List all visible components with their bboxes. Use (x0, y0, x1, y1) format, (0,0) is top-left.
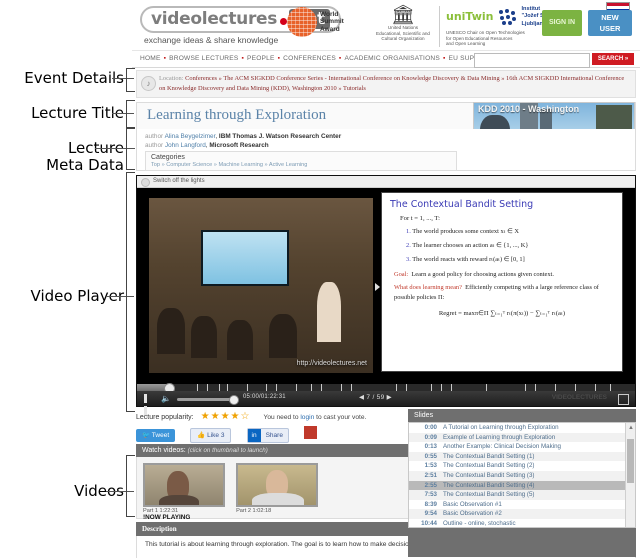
tweet-button[interactable]: 🐦 Tweet (136, 429, 175, 442)
video-thumbnail-2-caption: Part 2 1:02:18 (236, 508, 318, 514)
vote-note: You need to login to cast your vote. (264, 414, 367, 421)
seek-tick (247, 384, 248, 391)
video-thumbnail-1-image (143, 463, 225, 507)
slide-step-1-text: The world produces some context xₜ ∈ X (412, 228, 519, 235)
time-display: 05:00/01:22:31 (243, 394, 286, 400)
annotation-label-lecture-title: Lecture Title (6, 105, 124, 122)
next-slide-icon[interactable]: ▶ (387, 394, 392, 401)
slide-item-title: A Tutorial on Learning through Explorati… (443, 423, 559, 433)
slide-counter: 7 / 59 (366, 394, 384, 401)
switch-off-lights-button[interactable]: Switch off the lights (137, 176, 635, 188)
seek-tick (406, 384, 407, 391)
thumb1-body (159, 495, 199, 507)
slide-intro: For t = 1, ..., T: (400, 215, 614, 222)
slide-step-3-text: The world reacts with reward rₜ(aₜ) ∈ [0… (412, 256, 524, 263)
slide-navigation[interactable]: ◀ 7 / 59 ▶ (359, 393, 392, 401)
audience-person-3 (227, 320, 253, 360)
slide-list-item[interactable]: 0:13Another Example: Clinical Decision M… (409, 442, 635, 452)
slide-question-label: What does learning mean? (394, 284, 462, 291)
seek-tick (219, 384, 220, 391)
scroll-up-icon[interactable]: ▲ (628, 425, 634, 431)
new-user-line1: NEW (601, 13, 619, 22)
slide-item-title: Basic Observation #2 (443, 509, 502, 519)
vote-note-post: to cast your vote. (314, 414, 366, 421)
slide-item-time: 2:51 (411, 471, 437, 481)
video-player: Switch off the lights http://videolectur… (136, 175, 636, 407)
lightbulb-icon (141, 178, 150, 187)
volume-slider[interactable] (177, 398, 233, 401)
seek-tick (351, 384, 352, 391)
slide-item-time: 8:39 (411, 500, 437, 510)
browser-page: videolecturesnet exchange ideas & share … (132, 0, 640, 558)
slide-list-item[interactable]: 8:39Basic Observation #1 (409, 500, 635, 510)
annotation-label-event-details: Event Details (6, 70, 124, 87)
categories-path[interactable]: Top » Computer Science » Machine Learnin… (151, 162, 451, 168)
slide-view[interactable]: The Contextual Bandit Setting For t = 1,… (381, 192, 623, 372)
switch-off-lights-label: Switch off the lights (153, 178, 205, 184)
popularity-label: Lecture popularity: (136, 414, 194, 421)
slide-item-time: 0:55 (411, 452, 437, 462)
rating-stars[interactable]: ★★★★☆ (201, 411, 251, 422)
slide-item-time: 10:44 (411, 519, 437, 528)
like-label: Like 3 (207, 432, 224, 439)
player-controls: 🔈 05:00/01:22:31 ◀ 7 / 59 ▶ VIDEOLECTURE… (137, 391, 635, 406)
slide-list-item[interactable]: 0:09Example of Learning through Explorat… (409, 433, 635, 443)
slide-step-2: 2. The learner chooses an action aₜ ∈ {1… (406, 241, 614, 249)
title-band: Learning through Exploration KDD 2010 - … (136, 102, 636, 129)
slide-item-title: The Contextual Bandit Setting (1) (443, 452, 535, 462)
seek-tick (341, 384, 342, 391)
slide-list-item[interactable]: 10:44Outline - online, stochastic (409, 519, 635, 528)
slide-item-time: 2:55 (411, 481, 437, 491)
seek-tick (486, 384, 487, 391)
annotation-column: Event Details Lecture Title Lecture Meta… (0, 0, 132, 558)
unesco-temple-icon: 🏛 (372, 6, 434, 25)
watch-videos-hint: (click on thumbnail to launch) (188, 447, 268, 454)
slides-panel-footer (408, 531, 636, 557)
slide-item-title: The Contextual Bandit Setting (3) (443, 471, 535, 481)
seek-tick (296, 384, 297, 391)
slide-item-time: 0:13 (411, 442, 437, 452)
seek-tick (441, 384, 442, 391)
nav-item-academic-organisations[interactable]: ACADEMIC ORGANISATIONS (344, 55, 440, 62)
vote-note-pre: You need to (264, 414, 301, 421)
slide-list-item[interactable]: 0:00A Tutorial on Learning through Explo… (409, 423, 635, 433)
search-button[interactable]: SEARCH » (592, 53, 634, 65)
globe-icon (287, 7, 317, 37)
slide-equation: Regret = maxπ∈Π ∑ₜ₌₁ᵀ rₜ(π(xₜ)) − ∑ₜ₌₁ᵀ … (390, 309, 614, 317)
video-watermark: http://videolectures.net (297, 360, 367, 367)
meta-band: author Alina Beygelzimer, IBM Thomas J. … (136, 129, 636, 171)
seek-tick (575, 384, 576, 391)
seek-tick (396, 384, 397, 391)
slide-goal-label: Goal: (394, 271, 408, 278)
world-summit-award-badge: World Summit Award (287, 7, 365, 43)
unitwin-logo-icon: uniTwin (446, 10, 494, 23)
author-affiliation-2: Microsoft Research (209, 142, 268, 149)
seek-tick (595, 384, 596, 391)
annotation-bracket-event (126, 68, 135, 92)
slide-item-time: 7:53 (411, 490, 437, 500)
slide-prev-arrow-icon[interactable] (375, 283, 380, 291)
ijs-dots-icon (499, 9, 517, 25)
fullscreen-icon[interactable] (618, 394, 629, 405)
seek-tick (535, 384, 536, 391)
annotation-bracket-meta (126, 128, 135, 170)
seek-tick (276, 384, 277, 391)
categories-box: Categories Top » Computer Science » Mach… (145, 151, 457, 171)
author-name-1[interactable]: Alina Beygelzimer (165, 133, 216, 140)
nav-item-home[interactable]: HOME (140, 55, 161, 62)
location-bar: ♪ Location: Conferences » The ACM SIGKDD… (136, 70, 636, 98)
now-playing-badge: !NOW PLAYING (143, 514, 225, 521)
video-thumbnail-2[interactable]: Part 2 1:02:18 (236, 463, 318, 514)
sign-in-button[interactable]: SIGN IN (542, 10, 582, 36)
seek-tick (431, 384, 432, 391)
location-text: Location: Conferences » The ACM SIGKDD C… (159, 74, 630, 94)
tweet-label: Tweet (152, 432, 169, 439)
location-pin-icon: ♪ (141, 76, 156, 91)
prev-slide-icon[interactable]: ◀ (359, 394, 364, 401)
slide-list-item[interactable]: 2:55The Contextual Bandit Setting (4) (409, 481, 635, 491)
slide-list-item[interactable]: 1:53The Contextual Bandit Setting (2) (409, 461, 635, 471)
slide-goal-text: Learn a good policy for choosing actions… (411, 271, 554, 278)
event-banner-title: KDD 2010 - Washington (478, 104, 579, 114)
search-input[interactable] (474, 53, 590, 68)
author-row-2: author John Langford, Microsoft Research (145, 141, 627, 150)
slide-item-time: 0:00 (411, 423, 437, 433)
speaker-icon[interactable]: 🔈 (161, 394, 171, 403)
slide-step-1: 1. The world produces some context xₜ ∈ … (406, 227, 614, 235)
scrollbar-thumb[interactable] (627, 439, 634, 483)
player-stage: http://videolectures.net The Contextual … (137, 188, 635, 383)
slide-item-title: Basic Observation #1 (443, 500, 502, 510)
slide-goal: Goal: Learn a good policy for choosing a… (394, 271, 614, 278)
audience-person-2 (191, 316, 217, 358)
slide-step-3: 3. The world reacts with reward rₜ(aₜ) ∈… (406, 255, 614, 263)
site-header: videolecturesnet exchange ideas & share … (132, 0, 640, 51)
facebook-like-button[interactable]: 👍 Like 3 (190, 428, 231, 443)
author-label-1: author (145, 133, 163, 140)
author-label-2: author (145, 142, 163, 149)
seek-tick (197, 384, 198, 391)
volume-handle[interactable] (229, 395, 239, 405)
location-path[interactable]: Conferences » The ACM SIGKDD Conference … (159, 75, 624, 92)
audience-person-4 (269, 314, 297, 358)
seek-tick (525, 384, 526, 391)
slide-item-title: Another Example: Clinical Decision Makin… (443, 442, 561, 452)
linkedin-icon: in (248, 429, 261, 442)
slide-step-2-text: The learner chooses an action aₜ ∈ {1, .… (412, 242, 528, 249)
seek-tick (207, 384, 208, 391)
thumb2-body (252, 493, 304, 507)
slide-item-time: 0:09 (411, 433, 437, 443)
annotation-label-lecture-meta: Lecture Meta Data (6, 140, 124, 174)
slides-panel: Slides ▲ 0:00A Tutorial on Learning thro… (408, 409, 636, 558)
slide-item-title: Outline - online, stochastic (443, 519, 516, 528)
seek-bar[interactable] (137, 383, 635, 391)
slide-item-time: 9:54 (411, 509, 437, 519)
slides-scrollbar[interactable]: ▲ (625, 423, 635, 527)
world-summit-award-text: World Summit Award (320, 11, 344, 33)
slide-item-title: The Contextual Bandit Setting (4) (443, 481, 535, 491)
unesco-caption: United Nations Educational, Scientific a… (372, 25, 434, 42)
video-thumbnail-1[interactable]: Part 1 1:22:31 !NOW PLAYING (143, 463, 225, 521)
seek-tick (555, 384, 556, 391)
slide-list-item[interactable]: 7:53The Contextual Bandit Setting (5) (409, 490, 635, 500)
slide-list-item[interactable]: 9:54Basic Observation #2 (409, 509, 635, 519)
new-user-line2: USER (600, 24, 621, 33)
main-navigation: HOME▪BROWSE LECTURES▪PEOPLE▪CONFERENCES▪… (132, 51, 640, 68)
speaker-person (317, 282, 341, 342)
nav-item-conferences[interactable]: CONFERENCES (283, 55, 336, 62)
seek-progress (137, 384, 167, 391)
annotation-bracket-videos (126, 455, 135, 517)
seek-tick (266, 384, 267, 391)
seek-tick (227, 384, 228, 391)
slide-item-title: The Contextual Bandit Setting (5) (443, 490, 535, 500)
seek-tick (451, 384, 452, 391)
linkedin-share-button[interactable]: inShare (247, 428, 289, 443)
slide-list-item[interactable]: 2:51The Contextual Bandit Setting (3) (409, 471, 635, 481)
annotation-bracket-player (126, 172, 135, 412)
nav-item-browse-lectures[interactable]: BROWSE LECTURES (169, 55, 238, 62)
logo-main-text: videolectures (151, 9, 277, 29)
slide-item-time: 1:53 (411, 461, 437, 471)
pause-icon[interactable] (144, 394, 153, 403)
video-thumbnail-2-image (236, 463, 318, 507)
annotation-bracket-title (126, 100, 135, 128)
location-label: Location: (159, 75, 184, 82)
player-brand: VIDEOLECTURES (552, 394, 607, 401)
seek-tick (321, 384, 322, 391)
slide-list-item[interactable]: 0:55The Contextual Bandit Setting (1) (409, 452, 635, 462)
author-affiliation-1: IBM Thomas J. Watson Research Center (219, 133, 341, 140)
new-user-button[interactable]: NEW USER (588, 10, 632, 36)
slide-question: What does learning mean? Efficiently com… (394, 283, 614, 302)
seek-tick (311, 384, 312, 391)
slide-item-title: Example of Learning through Exploration (443, 433, 555, 443)
nav-item-people[interactable]: PEOPLE (247, 55, 275, 62)
watch-videos-heading: Watch videos: (142, 447, 186, 454)
audience-person-1 (157, 308, 185, 354)
author-name-2[interactable]: John Langford (165, 142, 206, 149)
video-view[interactable]: http://videolectures.net (149, 198, 373, 373)
seek-tick (610, 384, 611, 391)
projection-screen (201, 230, 289, 286)
author-row-1: author Alina Beygelzimer, IBM Thomas J. … (145, 132, 627, 141)
slide-heading: The Contextual Bandit Setting (390, 199, 614, 210)
slide-item-title: The Contextual Bandit Setting (2) (443, 461, 535, 471)
slides-panel-header: Slides (408, 409, 636, 422)
share-label: Share (261, 429, 288, 442)
share-icon[interactable] (304, 426, 317, 439)
unesco-badge: 🏛 United Nations Educational, Scientific… (372, 6, 434, 42)
categories-title: Categories (151, 154, 451, 161)
login-link[interactable]: login (300, 414, 314, 421)
slides-list[interactable]: ▲ 0:00A Tutorial on Learning through Exp… (408, 422, 636, 528)
